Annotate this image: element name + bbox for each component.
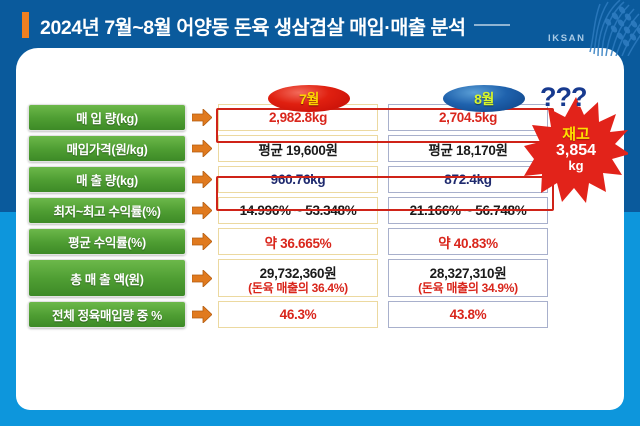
arrow-right-icon — [192, 306, 212, 323]
row-arrow — [186, 171, 218, 188]
cell-value: 약 36.665% — [265, 232, 332, 252]
cell-value: 29,732,360원 — [260, 262, 337, 282]
analysis-table: 매 입 량(kg) 2,982.8kg 2,704.5kg 매입가격(원/kg) — [28, 104, 558, 332]
row-arrow — [186, 140, 218, 157]
page-title: 2024년 7월~8월 어양동 돈육 생삼겹살 매입·매출 분석 — [40, 11, 466, 40]
iksan-logo: IKSAN — [540, 0, 640, 56]
row-arrow — [186, 270, 218, 287]
arrow-right-icon — [192, 109, 212, 126]
cell-jul: 약 36.665% — [218, 228, 378, 255]
cell-value: 2,982.8kg — [269, 110, 327, 125]
arrow-right-icon — [192, 202, 212, 219]
table-row: 평균 수익률(%) 약 36.665% 약 40.83% — [28, 228, 558, 255]
arrow-right-icon — [192, 140, 212, 157]
cell-value: 43.8% — [450, 307, 487, 322]
table-row: 총 매 출 액(원) 29,732,360원 (돈육 매출의 36.4%) 28… — [28, 259, 558, 297]
row-label: 매 출 량(kg) — [28, 166, 186, 193]
title-accent-bar — [22, 12, 29, 38]
slide-root: 2024년 7월~8월 어양동 돈육 생삼겹살 매입·매출 분석 — [0, 0, 640, 426]
cell-value: 960.76kg — [271, 172, 326, 187]
cell-jul: 29,732,360원 (돈육 매출의 36.4%) — [218, 259, 378, 297]
row-label: 총 매 출 액(원) — [28, 259, 186, 297]
cell-aug: 43.8% — [388, 301, 548, 328]
table-row: 매입가격(원/kg) 평균 19,600원 평균 18,170원 — [28, 135, 558, 162]
cell-value: 약 40.83% — [438, 232, 498, 252]
cell-value: 평균 18,170원 — [428, 139, 507, 159]
table-row: 최저~최고 수익률(%) 14.996% ~ 53.348% 21.166% ~… — [28, 197, 558, 224]
arrow-right-icon — [192, 270, 212, 287]
cell-value: 14.996% ~ 53.348% — [240, 203, 357, 218]
logo-text: IKSAN — [548, 33, 586, 44]
cell-value: 평균 19,600원 — [258, 139, 337, 159]
title-divider-rule — [474, 24, 510, 26]
row-arrow — [186, 109, 218, 126]
cell-jul: 평균 19,600원 — [218, 135, 378, 162]
cell-jul: 960.76kg — [218, 166, 378, 193]
cell-value: 2,704.5kg — [439, 110, 497, 125]
row-label: 최저~최고 수익률(%) — [28, 197, 186, 224]
cell-aug: 28,327,310원 (돈육 매출의 34.9%) — [388, 259, 548, 297]
table-row: 매 출 량(kg) 960.76kg 872.4kg — [28, 166, 558, 193]
question-marks: ??? — [540, 82, 586, 113]
row-label: 매입가격(원/kg) — [28, 135, 186, 162]
cell-value: 28,327,310원 — [430, 262, 507, 282]
row-label: 평균 수익률(%) — [28, 228, 186, 255]
row-arrow — [186, 306, 218, 323]
cell-value: 21.166% ~ 56.748% — [410, 203, 527, 218]
iksan-emblem-icon — [540, 0, 640, 56]
cell-value: 872.4kg — [444, 172, 491, 187]
row-arrow — [186, 233, 218, 250]
arrow-right-icon — [192, 171, 212, 188]
cell-aug: 약 40.83% — [388, 228, 548, 255]
cell-jul: 46.3% — [218, 301, 378, 328]
row-label: 매 입 량(kg) — [28, 104, 186, 131]
row-label: 전체 정육매입량 중 % — [28, 301, 186, 328]
cell-value: 46.3% — [280, 307, 317, 322]
cell-subvalue: (돈육 매출의 34.9%) — [418, 282, 518, 295]
column-badge-aug: 8월 — [443, 85, 525, 112]
column-badge-jul: 7월 — [268, 85, 350, 112]
arrow-right-icon — [192, 233, 212, 250]
table-row: 전체 정육매입량 중 % 46.3% 43.8% — [28, 301, 558, 328]
cell-subvalue: (돈육 매출의 36.4%) — [248, 282, 348, 295]
row-arrow — [186, 202, 218, 219]
cell-jul: 14.996% ~ 53.348% — [218, 197, 378, 224]
